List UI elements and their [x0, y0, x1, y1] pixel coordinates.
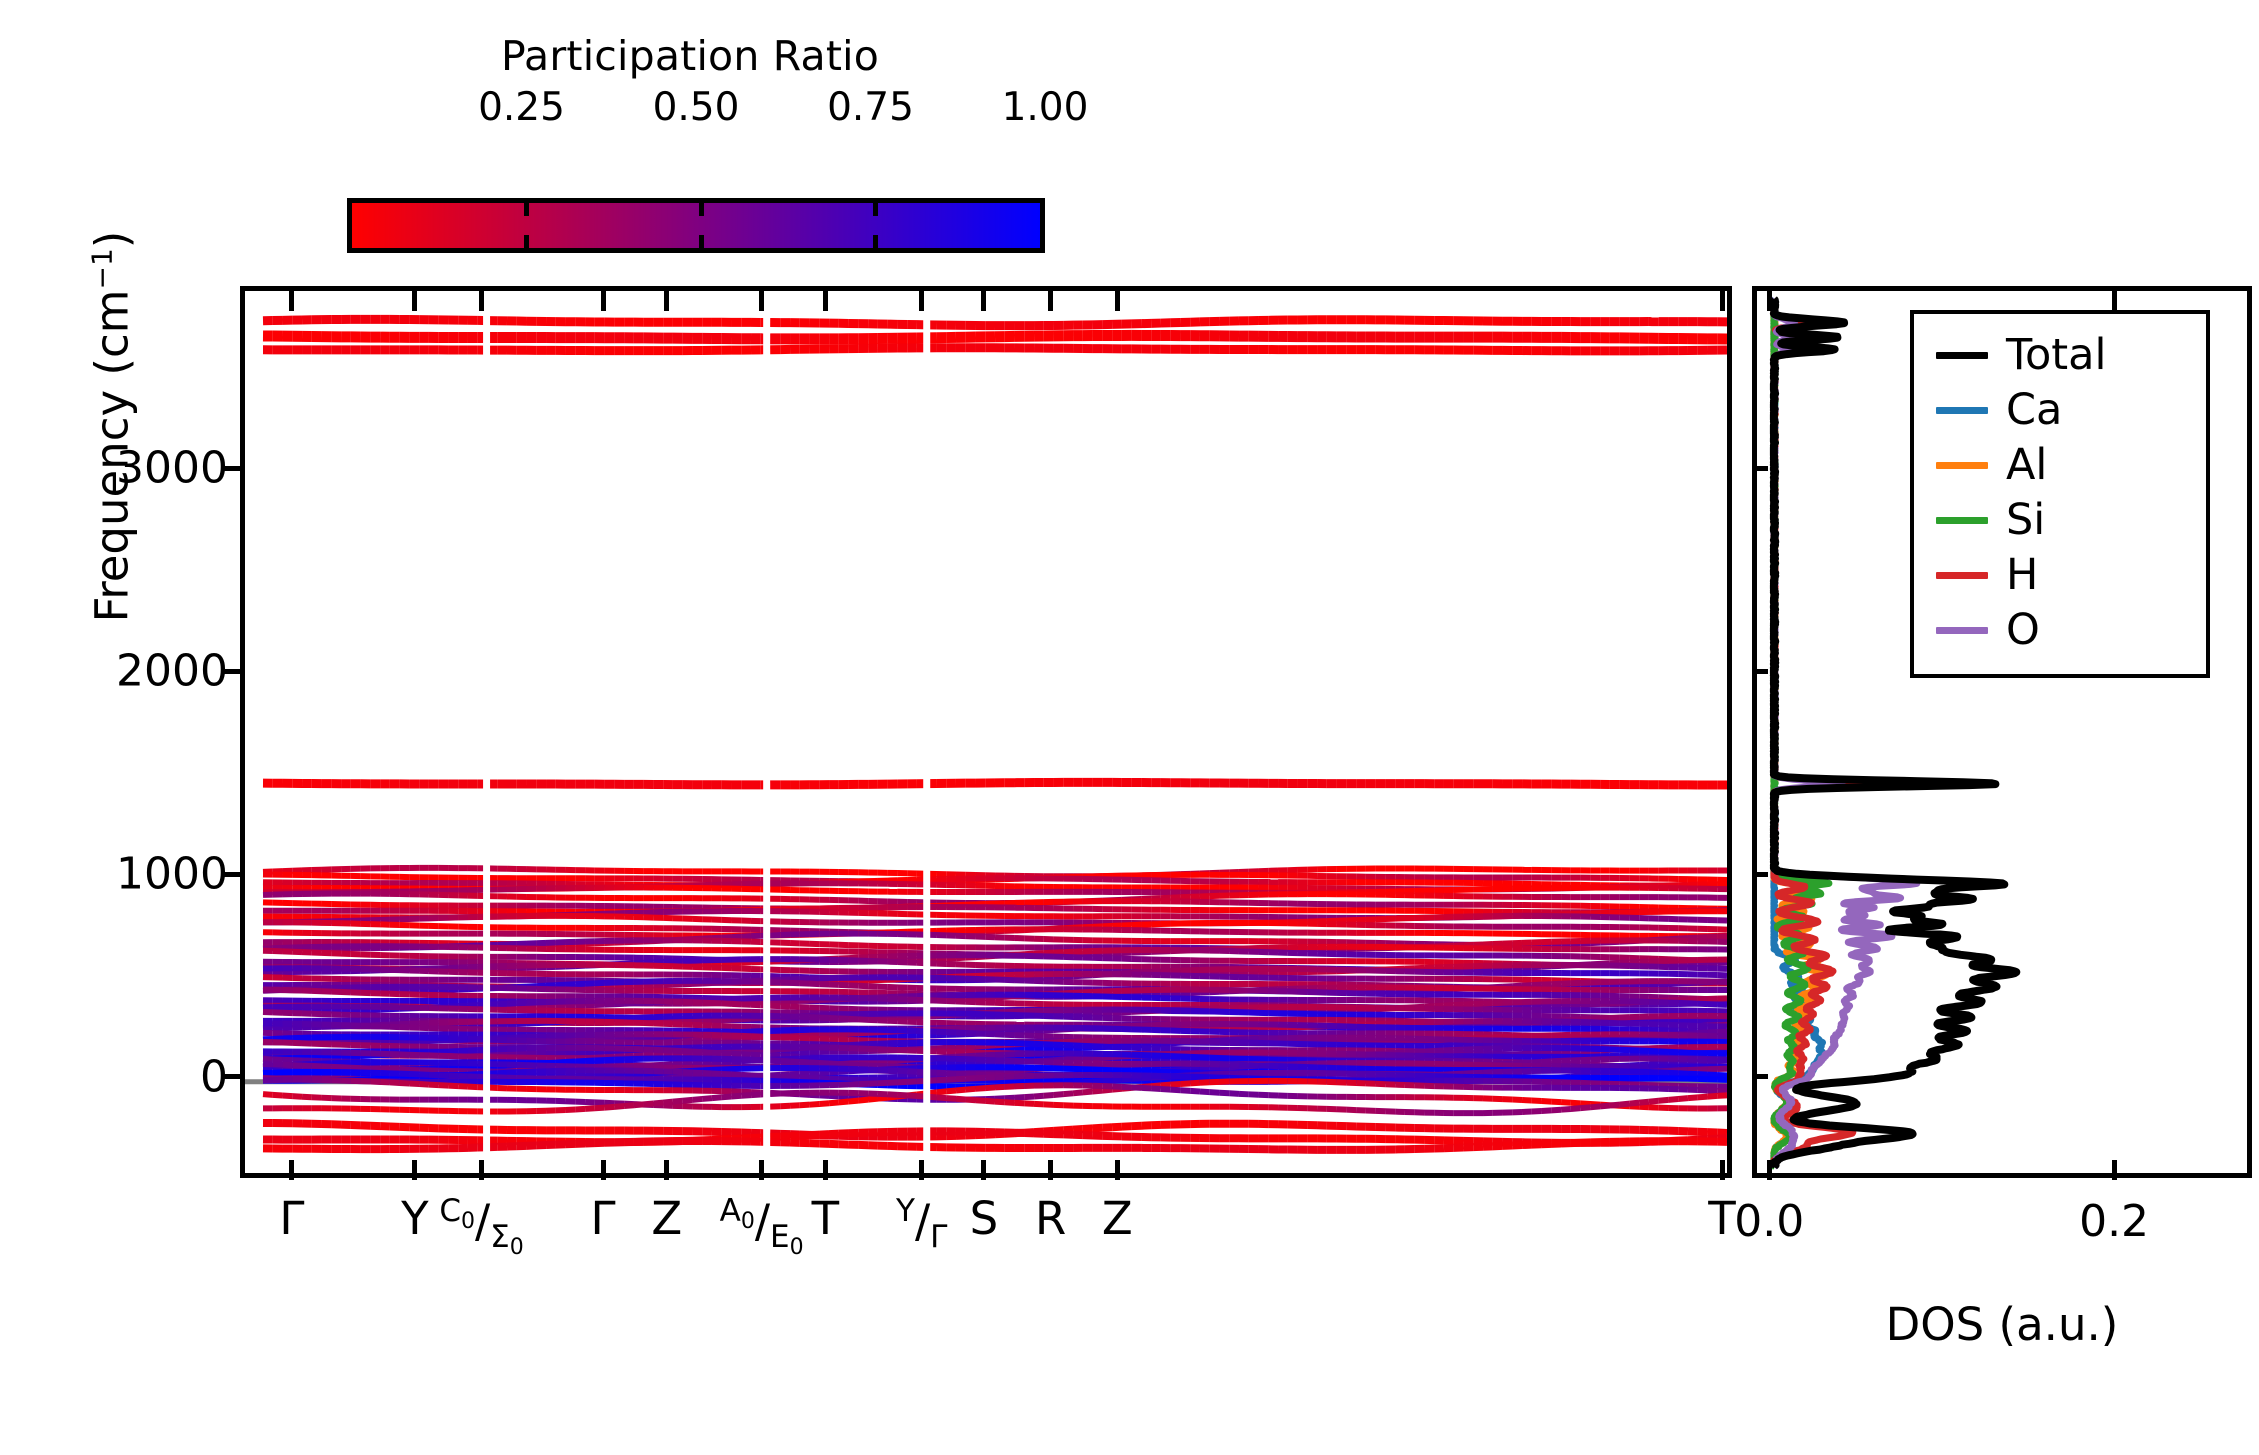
- colorbar-tick-label: 1.00: [1002, 85, 1089, 130]
- x-tick-label: C0/Σ0: [439, 1196, 523, 1259]
- x-tick-label: T: [1708, 1196, 1736, 1241]
- legend-color-swatch: [1936, 352, 1988, 359]
- x-tick-mark-top: [823, 291, 828, 311]
- colorbar-tick-label: 0.50: [653, 85, 740, 130]
- legend-entry[interactable]: O: [1914, 603, 2206, 658]
- legend-color-swatch: [1936, 517, 1988, 524]
- x-tick-label: T: [812, 1196, 840, 1241]
- band-x-tick-labels: ΓYC0/Σ0ΓZA0/E0TY/ΓSRZT: [240, 1196, 1732, 1306]
- x-tick-mark-top: [412, 291, 417, 311]
- y-tick-mark: [224, 669, 240, 674]
- dos-y-tick-mark: [1752, 1074, 1768, 1079]
- x-tick-mark: [823, 1160, 828, 1180]
- participation-ratio-colorbar: [347, 198, 1045, 253]
- legend-label: Si: [2006, 499, 2045, 542]
- x-tick-label: R: [1035, 1196, 1066, 1241]
- legend-label: Ca: [2006, 389, 2062, 432]
- x-tick-label: Y/Γ: [896, 1196, 947, 1253]
- colorbar-tick-mark: [873, 235, 878, 248]
- x-tick-mark-top: [479, 291, 484, 311]
- colorbar-tick-mark: [699, 203, 704, 216]
- x-tick-mark-top: [664, 291, 669, 311]
- colorbar-tick-mark: [524, 235, 529, 248]
- x-tick-mark-top: [1048, 291, 1053, 311]
- band-structure-axes: [240, 286, 1732, 1178]
- y-tick-label: 3000: [116, 443, 228, 494]
- y-axis-label-exponent: −1: [86, 248, 119, 289]
- x-tick-mark-top: [981, 291, 986, 311]
- x-tick-mark: [412, 1160, 417, 1180]
- x-tick-label: Z: [1102, 1196, 1133, 1241]
- x-tick-mark-top: [289, 291, 294, 311]
- dos-x-tick-label: 0.2: [2079, 1196, 2149, 1247]
- dos-x-tick-mark: [1767, 1160, 1772, 1180]
- y-tick-mark: [224, 1074, 240, 1079]
- phonon-figure: Participation Ratio 0.250.500.751.00 Fre…: [0, 0, 2259, 1455]
- dos-y-tick-mark: [1752, 669, 1768, 674]
- legend-entry[interactable]: H: [1914, 548, 2206, 603]
- legend-label: H: [2006, 554, 2038, 597]
- colorbar-tick-label: 0.75: [827, 85, 914, 130]
- y-tick-mark: [224, 872, 240, 877]
- colorbar-tick-labels: 0.250.500.751.00: [330, 85, 1050, 131]
- dos-y-tick-mark: [1752, 466, 1768, 471]
- x-tick-label: Γ: [279, 1196, 304, 1241]
- x-tick-label: Γ: [591, 1196, 616, 1241]
- dos-x-tick-mark: [2112, 1160, 2117, 1180]
- colorbar-tick-label: 0.25: [478, 85, 565, 130]
- legend-entry[interactable]: Al: [1914, 438, 2206, 493]
- x-tick-mark-top: [1115, 291, 1120, 311]
- y-tick-label: 2000: [116, 646, 228, 697]
- x-tick-mark: [601, 1160, 606, 1180]
- legend-color-swatch: [1936, 407, 1988, 414]
- y-axis-label-paren: ): [86, 231, 139, 249]
- x-tick-mark: [759, 1160, 764, 1180]
- colorbar-title: Participation Ratio: [330, 32, 1050, 80]
- dos-legend: TotalCaAlSiHO: [1910, 310, 2210, 678]
- legend-entry[interactable]: Total: [1914, 328, 2206, 383]
- colorbar-tick-mark: [524, 203, 529, 216]
- colorbar-tick-mark: [873, 203, 878, 216]
- x-tick-mark: [1720, 1160, 1725, 1180]
- x-tick-mark: [479, 1160, 484, 1180]
- legend-color-swatch: [1936, 572, 1988, 579]
- dos-x-axis-label: DOS (a.u.): [1752, 1298, 2252, 1351]
- x-tick-mark: [664, 1160, 669, 1180]
- y-axis-label: Frequency (cm−1): [86, 147, 139, 707]
- x-tick-label: S: [970, 1196, 999, 1241]
- y-tick-mark: [224, 466, 240, 471]
- x-tick-mark: [919, 1160, 924, 1180]
- x-tick-label: A0/E0: [720, 1196, 804, 1259]
- x-tick-mark-top: [1720, 291, 1725, 311]
- x-tick-mark-top: [759, 291, 764, 311]
- legend-color-swatch: [1936, 627, 1988, 634]
- band-structure-plot: [245, 291, 1727, 1173]
- colorbar-tick-mark: [699, 235, 704, 248]
- y-tick-label: 1000: [116, 849, 228, 900]
- x-tick-mark-top: [919, 291, 924, 311]
- x-tick-mark-top: [601, 291, 606, 311]
- x-tick-mark: [1115, 1160, 1120, 1180]
- legend-label: Total: [2006, 334, 2106, 377]
- x-tick-label: Y: [401, 1196, 429, 1241]
- dos-x-tick-mark-top: [1767, 291, 1772, 311]
- dos-curve-h: [1774, 299, 1928, 1167]
- x-tick-label: Z: [651, 1196, 682, 1241]
- x-tick-mark: [289, 1160, 294, 1180]
- dos-x-tick-mark-top: [2112, 291, 2117, 311]
- legend-entry[interactable]: Ca: [1914, 383, 2206, 438]
- x-tick-mark: [981, 1160, 986, 1180]
- dos-x-tick-label: 0.0: [1734, 1196, 1804, 1247]
- legend-color-swatch: [1936, 462, 1988, 469]
- legend-label: Al: [2006, 444, 2047, 487]
- legend-label: O: [2006, 609, 2040, 652]
- dos-y-tick-mark: [1752, 872, 1768, 877]
- x-tick-mark: [1048, 1160, 1053, 1180]
- legend-entry[interactable]: Si: [1914, 493, 2206, 548]
